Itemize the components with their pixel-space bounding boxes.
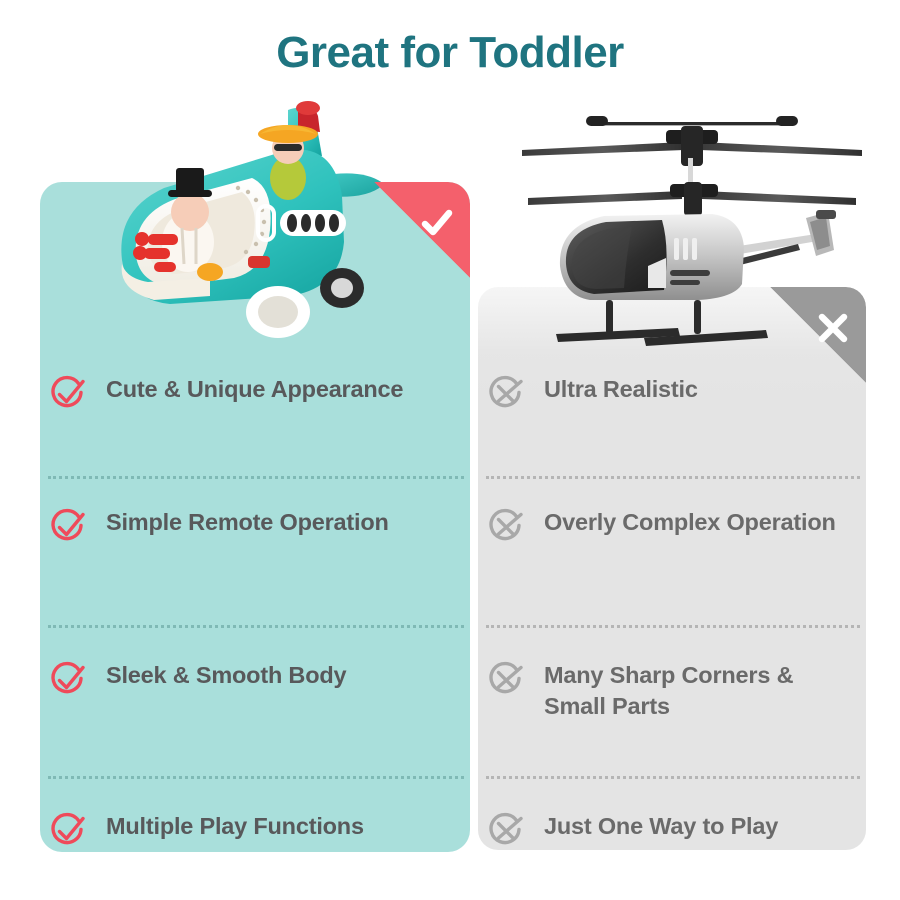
infographic-root: Great for Toddler — [0, 0, 900, 900]
list-item[interactable]: Just One Way to Play — [486, 809, 860, 873]
good-corner-ribbon — [374, 182, 470, 278]
list-item-label: Cute & Unique Appearance — [106, 372, 403, 405]
list-item-label: Multiple Play Functions — [106, 809, 364, 842]
list-item[interactable]: Multiple Play Functions — [48, 809, 464, 873]
circle-cross-icon — [486, 507, 526, 547]
circle-cross-icon — [486, 811, 526, 851]
circle-check-icon — [48, 374, 88, 414]
circle-cross-icon — [486, 660, 526, 700]
list-item-label: Overly Complex Operation — [544, 505, 836, 538]
page-title: Great for Toddler — [0, 28, 900, 78]
close-icon — [814, 309, 852, 347]
list-item[interactable]: Many Sharp Corners & Small Parts — [486, 658, 860, 776]
list-item-label: Just One Way to Play — [544, 809, 778, 842]
list-item-label: Ultra Realistic — [544, 372, 698, 405]
list-item[interactable]: Sleek & Smooth Body — [48, 658, 464, 776]
good-feature-list: Cute & Unique Appearance Simple Remote O… — [48, 372, 464, 873]
circle-check-icon — [48, 811, 88, 851]
circle-check-icon — [48, 507, 88, 547]
list-item-label: Sleek & Smooth Body — [106, 658, 346, 691]
list-item-label: Simple Remote Operation — [106, 505, 389, 538]
list-item-label: Many Sharp Corners & Small Parts — [544, 658, 860, 723]
list-item[interactable]: Cute & Unique Appearance — [48, 372, 464, 476]
circle-check-icon — [48, 660, 88, 700]
list-item[interactable]: Simple Remote Operation — [48, 505, 464, 625]
check-icon — [418, 204, 456, 242]
bad-corner-ribbon — [770, 287, 866, 383]
list-item[interactable]: Overly Complex Operation — [486, 505, 860, 625]
bad-feature-list: Ultra Realistic Overly Complex Operation — [486, 372, 860, 873]
circle-cross-icon — [486, 374, 526, 414]
airplane-product-image — [92, 92, 392, 350]
list-item[interactable]: Ultra Realistic — [486, 372, 860, 476]
